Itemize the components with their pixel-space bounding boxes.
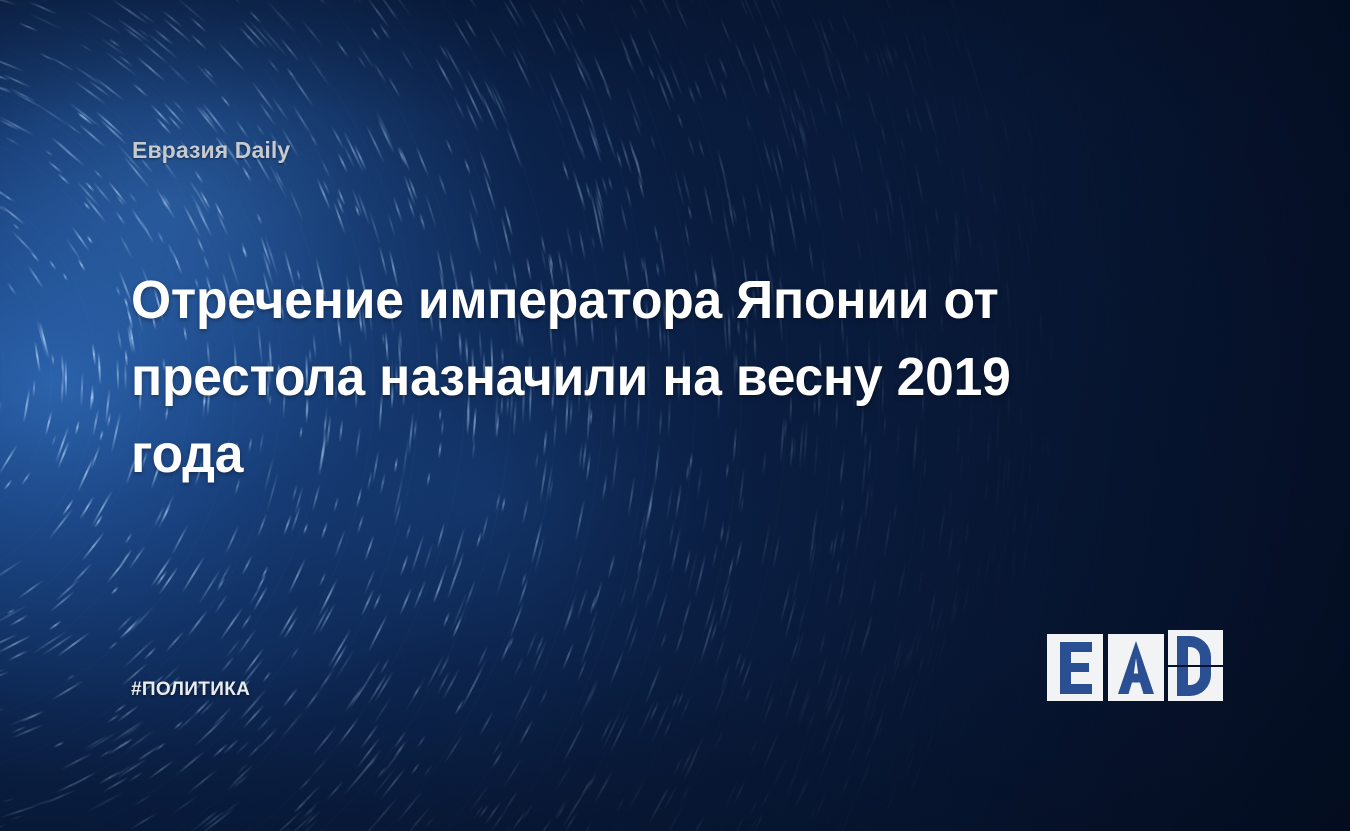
logo-tile-a (1108, 634, 1164, 701)
letter-d-lower-icon (1168, 667, 1223, 701)
rubric-tag-politics[interactable]: #ПОЛИТИКА (131, 679, 250, 701)
letter-e-icon (1047, 634, 1103, 701)
letter-a-icon (1108, 634, 1164, 701)
eadaily-logo[interactable] (1047, 630, 1223, 701)
letter-d-upper-icon (1168, 630, 1223, 665)
logo-tile-d-lower (1168, 667, 1223, 701)
page-title: Отречение императора Японии от престола … (131, 262, 1115, 493)
share-card: Евразия Daily Отречение императора Япони… (0, 0, 1350, 831)
logo-tile-e (1047, 634, 1103, 701)
logo-tile-d-upper (1168, 630, 1223, 665)
card-content: Евразия Daily Отречение императора Япони… (0, 0, 1350, 831)
brand-name: Евразия Daily (132, 137, 290, 164)
